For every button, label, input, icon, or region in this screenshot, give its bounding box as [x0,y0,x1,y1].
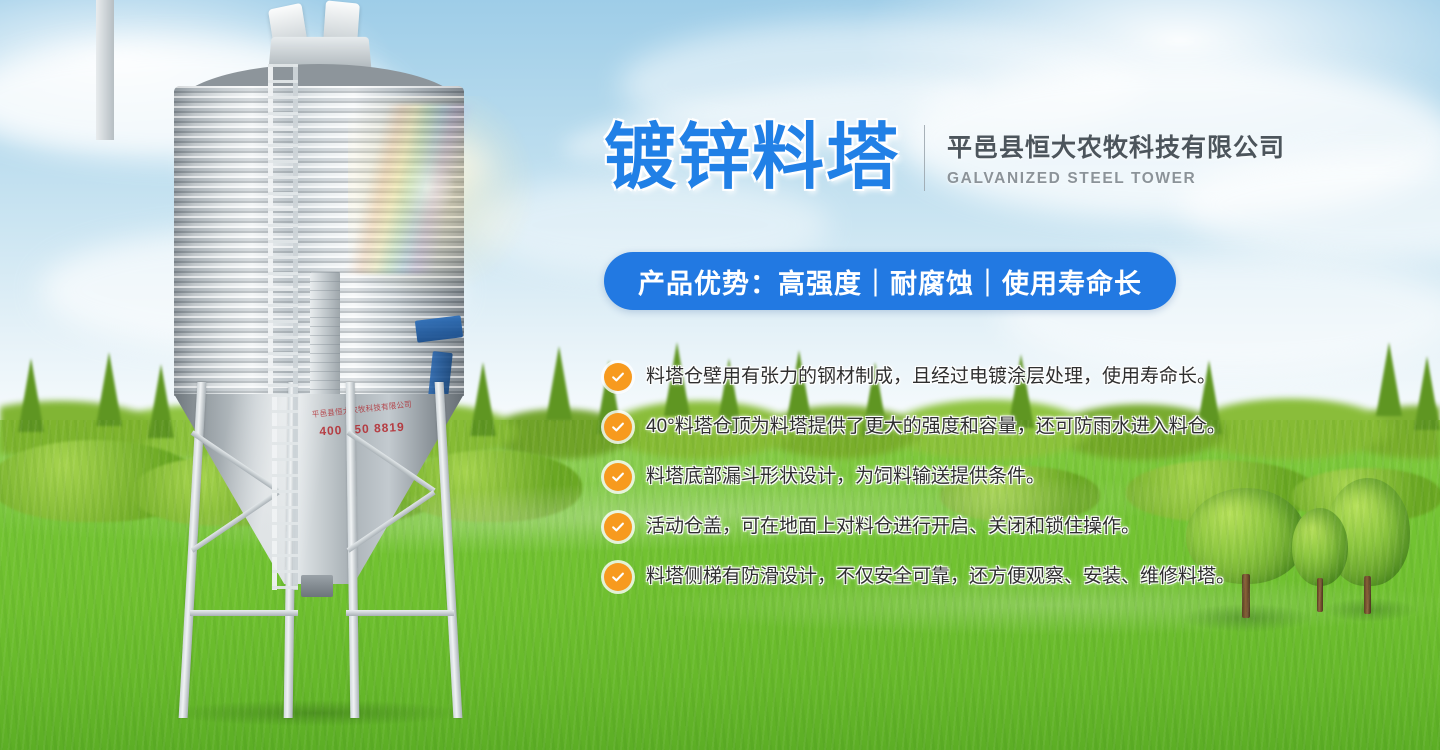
silo-horizontal-bar [190,610,298,616]
check-circle-icon [604,563,632,591]
promo-banner-stage: 平邑县恒大农牧科技有限公司 400 850 8819 镀锌料塔 平邑县恒大农牧科… [0,0,1440,750]
galvanized-silo-illustration: 平邑县恒大农牧科技有限公司 400 850 8819 [96,0,516,750]
brand-block: 平邑县恒大农牧科技有限公司 GALVANIZED STEEL TOWER [947,128,1285,188]
silo-side-ladder [268,64,298,394]
check-circle-icon [604,413,632,441]
silo-hopper-highlight [174,394,464,584]
feature-text: 料塔仓壁用有张力的钢材制成，且经过电镀涂层处理，使用寿命长。 [646,366,1216,389]
list-item: 料塔仓壁用有张力的钢材制成，且经过电镀涂层处理，使用寿命长。 [604,352,1294,402]
conifer-tree [18,358,44,432]
check-circle-icon [604,463,632,491]
silo-ground-shadow [166,700,466,726]
feature-list: 料塔仓壁用有张力的钢材制成，且经过电镀涂层处理，使用寿命长。 40°料塔仓顶为料… [604,352,1294,602]
feature-text: 料塔底部漏斗形状设计，为饲料输送提供条件。 [646,466,1045,489]
silo-side-panel [310,272,340,404]
list-item: 40°料塔仓顶为料塔提供了更大的强度和容量，还可防雨水进入料仓。 [604,402,1294,452]
silo-horizontal-bar [346,610,454,616]
list-item: 料塔底部漏斗形状设计，为饲料输送提供条件。 [604,452,1294,502]
silo-ladder-base [96,0,114,140]
conifer-tree [1376,342,1402,416]
marketing-copy-panel: 镀锌料塔 平邑县恒大农牧科技有限公司 GALVANIZED STEEL TOWE… [604,0,1304,750]
feature-text: 40°料塔仓顶为料塔提供了更大的强度和容量，还可防雨水进入料仓。 [646,416,1226,439]
silo-support-leg [435,382,463,718]
tree-trunk [1317,578,1323,612]
feature-text: 料塔侧梯有防滑设计，不仅安全可靠，还方便观察、安装、维修料塔。 [646,566,1235,589]
list-item: 料塔侧梯有防滑设计，不仅安全可靠，还方便观察、安装、维修料塔。 [604,552,1294,602]
advantage-badge: 产品优势：高强度｜耐腐蚀｜使用寿命长 [604,252,1176,310]
title-divider [924,125,925,191]
conifer-tree [1414,356,1440,430]
check-circle-icon [604,363,632,391]
silo-side-ladder [272,394,298,590]
company-name-en: GALVANIZED STEEL TOWER [947,170,1285,188]
list-item: 活动仓盖，可在地面上对料仓进行开启、关闭和锁住操作。 [604,502,1294,552]
advantage-badge-label: 产品优势：高强度｜耐腐蚀｜使用寿命长 [638,262,1142,301]
company-name-cn: 平邑县恒大农牧科技有限公司 [947,128,1285,164]
tree-trunk [1364,576,1371,614]
feature-text: 活动仓盖，可在地面上对料仓进行开启、关闭和锁住操作。 [646,516,1140,539]
page-title: 镀锌料塔 [604,122,900,194]
headline-row: 镀锌料塔 平邑县恒大农牧科技有限公司 GALVANIZED STEEL TOWE… [604,122,1285,194]
conifer-tree [546,346,572,420]
check-circle-icon [604,513,632,541]
silo-discharge-outlet [301,575,333,597]
